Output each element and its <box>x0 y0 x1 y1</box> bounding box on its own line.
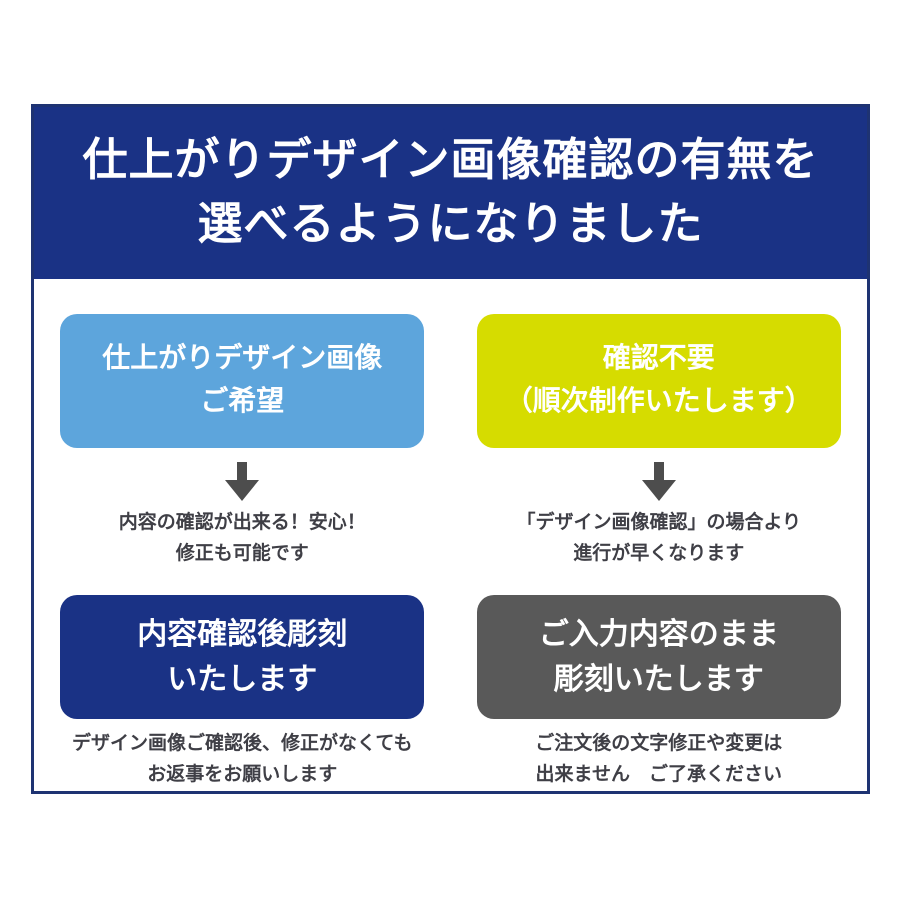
option-box-design-image-requested[interactable]: 仕上がりデザイン画像 ご希望 <box>60 314 424 448</box>
result-box-engrave-as-entered[interactable]: ご入力内容のまま 彫刻いたします <box>477 595 841 719</box>
note-line-1: 「デザイン画像確認」の場合より <box>516 508 801 539</box>
arrow-down-icon <box>642 462 676 500</box>
result-box-line-1: 内容確認後彫刻 <box>137 612 347 657</box>
result-box-engrave-after-confirmation[interactable]: 内容確認後彫刻 いたします <box>60 595 424 719</box>
caption-line-2: お返事をお願いします <box>72 760 412 791</box>
note-without-confirmation: 「デザイン画像確認」の場合より 進行が早くなります <box>516 508 801 570</box>
option-box-line-2: ご希望 <box>200 381 284 424</box>
result-box-line-2: いたします <box>167 657 317 702</box>
caption-without-confirmation: ご注文後の文字修正や変更は 出来ません ご了承ください <box>535 729 782 791</box>
note-with-confirmation: 内容の確認が出来る！安心！ 修正も可能です <box>119 508 366 570</box>
option-box-line-1: 確認不要 <box>603 338 715 381</box>
column-with-confirmation: 仕上がりデザイン画像 ご希望 内容の確認が出来る！安心！ 修正も可能です 内容確… <box>34 279 451 791</box>
caption-with-confirmation: デザイン画像ご確認後、修正がなくても お返事をお願いします <box>72 729 412 791</box>
content-frame: 仕上がりデザイン画像確認の有無を 選べるようになりました 仕上がりデザイン画像 … <box>31 104 870 794</box>
option-box-no-confirmation-needed[interactable]: 確認不要 （順次制作いたします） <box>477 314 841 448</box>
caption-line-2: 出来ません ご了承ください <box>535 760 782 791</box>
infographic-canvas: 仕上がりデザイン画像確認の有無を 選べるようになりました 仕上がりデザイン画像 … <box>0 0 900 900</box>
caption-line-1: デザイン画像ご確認後、修正がなくても <box>72 729 412 760</box>
column-without-confirmation: 確認不要 （順次制作いたします） 「デザイン画像確認」の場合より 進行が早くなり… <box>451 279 868 791</box>
header-title-line-1: 仕上がりデザイン画像確認の有無を <box>82 129 818 193</box>
arrow-head <box>225 480 259 501</box>
arrow-down-icon <box>225 462 259 500</box>
note-line-1: 内容の確認が出来る！安心！ <box>119 508 366 539</box>
result-box-line-1: ご入力内容のまま <box>539 612 779 657</box>
options-comparison: 仕上がりデザイン画像 ご希望 内容の確認が出来る！安心！ 修正も可能です 内容確… <box>34 279 867 791</box>
note-line-2: 修正も可能です <box>119 539 366 570</box>
option-box-line-1: 仕上がりデザイン画像 <box>102 338 382 381</box>
option-box-line-2: （順次制作いたします） <box>505 381 813 424</box>
result-box-line-2: 彫刻いたします <box>554 657 764 702</box>
arrow-shaft <box>654 462 664 482</box>
note-line-2: 進行が早くなります <box>516 539 801 570</box>
arrow-shaft <box>237 462 247 482</box>
arrow-head <box>642 480 676 501</box>
header-banner: 仕上がりデザイン画像確認の有無を 選べるようになりました <box>34 107 867 279</box>
header-title-line-2: 選べるようになりました <box>197 193 703 257</box>
caption-line-1: ご注文後の文字修正や変更は <box>535 729 782 760</box>
